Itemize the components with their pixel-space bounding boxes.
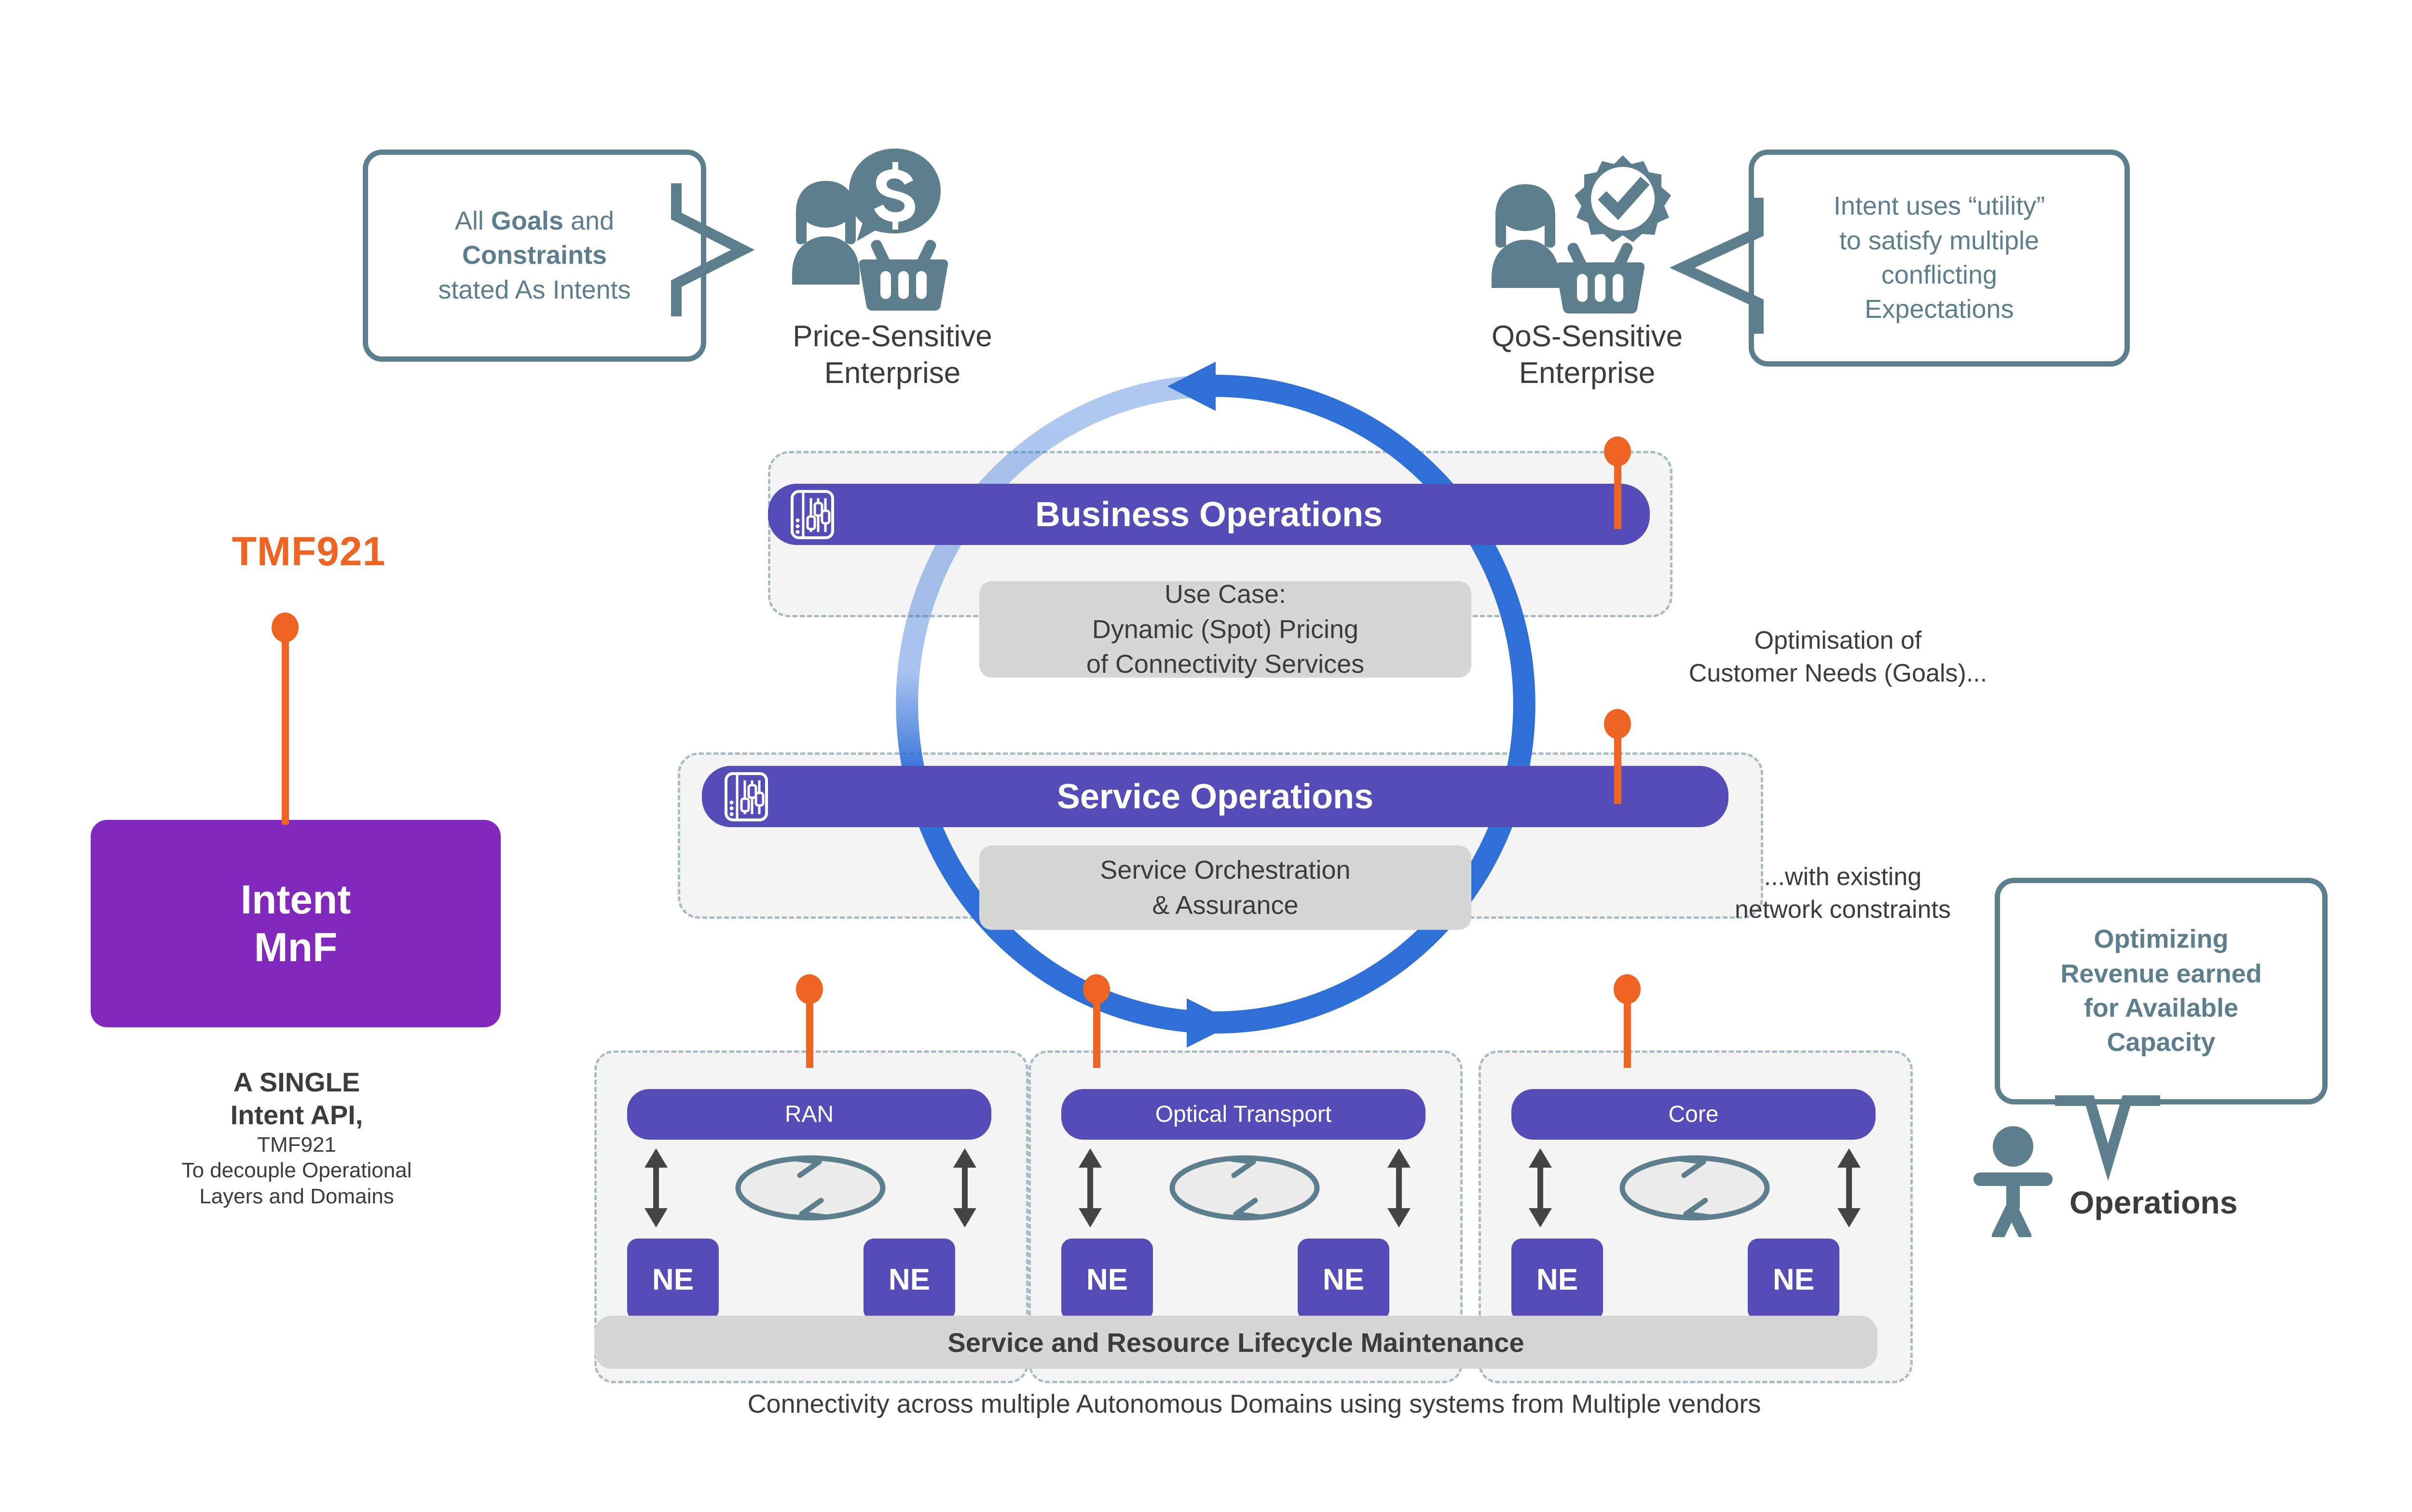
intent-mnf-label: Intent MnF [241, 876, 351, 971]
cycle-loop-arrow [878, 357, 1563, 1051]
ne-label: NE [889, 1263, 930, 1297]
ran-sync-arrows [627, 1145, 994, 1232]
optical-transport-label: Optical Transport [1155, 1101, 1331, 1128]
price-sensitive-enterprise-icon [791, 145, 999, 318]
core-ne-left[interactable]: NE [1511, 1239, 1603, 1321]
pin-stem [1093, 999, 1100, 1068]
core-pill[interactable]: Core [1511, 1089, 1876, 1140]
bubble-optimizing-revenue: Optimizing Revenue earned for Available … [1995, 878, 2328, 1104]
pin-stem [1614, 734, 1621, 804]
tmf921-api-label: TMF921 [183, 528, 434, 575]
use-case-note-text: Use Case: Dynamic (Spot) Pricing of Conn… [1086, 577, 1364, 682]
service-operations-bar[interactable]: Service Operations [702, 766, 1728, 827]
ne-label: NE [652, 1263, 694, 1297]
pin-stem [282, 638, 289, 825]
persona-label-line2: Enterprise [824, 356, 961, 390]
bubble-goals-constraints: All Goals and Constraints stated As Inte… [363, 150, 706, 362]
tmf921-pin [272, 613, 301, 825]
business-operations-pin [1604, 436, 1633, 531]
ne-label: NE [1086, 1263, 1128, 1297]
ne-label: NE [1773, 1263, 1814, 1297]
service-operations-title: Service Operations [1057, 777, 1373, 817]
caption-line-1: A SINGLE [77, 1066, 516, 1099]
diagram-canvas: All Goals and Constraints stated As Inte… [0, 0, 2412, 1512]
ne-label: NE [1323, 1263, 1364, 1297]
ran-label: RAN [785, 1101, 834, 1128]
business-operations-title: Business Operations [1035, 495, 1383, 534]
ne-label: NE [1536, 1263, 1578, 1297]
sliders-equalizer-icon [790, 490, 835, 540]
bubble-utility: Intent uses “utility” to satisfy multipl… [1749, 150, 2130, 367]
service-orchestration-note-text: Service Orchestration & Assurance [1100, 853, 1350, 923]
bubble-goals-tail [671, 178, 777, 318]
pin-stem [1624, 999, 1631, 1068]
core-sync-arrows [1511, 1145, 1878, 1232]
bubble-utility-text: Intent uses “utility” to satisfy multipl… [1821, 189, 2057, 327]
core-label: Core [1668, 1101, 1718, 1128]
sliders-equalizer-icon [724, 772, 768, 822]
constraints-note-line2: network constraints [1735, 896, 1951, 924]
optimisation-note: Optimisation of Customer Needs (Goals)..… [1664, 625, 2012, 690]
optical-transport-ne-left[interactable]: NE [1061, 1239, 1153, 1321]
bubble-revenue-tail [2050, 1095, 2166, 1191]
service-resource-lifecycle-bar: Service and Resource Lifecycle Maintenan… [594, 1316, 1878, 1369]
bottom-caption: Connectivity across multiple Autonomous … [434, 1389, 2074, 1419]
service-operations-pin [1604, 709, 1633, 805]
qos-sensitive-enterprise-icon [1491, 154, 1693, 323]
persona-label-line1: QoS-Sensitive [1492, 320, 1683, 353]
core-ne-right[interactable]: NE [1748, 1239, 1839, 1321]
caption-line-4: To decouple Operational [77, 1158, 516, 1184]
caption-line-2: Intent API, [77, 1099, 516, 1131]
persona-label-line2: Enterprise [1519, 356, 1656, 390]
service-orchestration-note: Service Orchestration & Assurance [979, 845, 1471, 930]
intent-mnf-box[interactable]: Intent MnF [91, 820, 501, 1027]
core-pin [1614, 974, 1643, 1071]
pin-stem [1614, 462, 1621, 529]
price-sensitive-enterprise-label: Price-Sensitive Enterprise [719, 318, 1066, 391]
caption-line-3: TMF921 [77, 1132, 516, 1158]
ran-ne-left[interactable]: NE [627, 1239, 719, 1321]
ran-pin [796, 974, 825, 1071]
caption-line-5: Layers and Domains [77, 1184, 516, 1210]
network-constraints-note: ...with existing network constraints [1674, 861, 2012, 926]
constraints-note-line1: ...with existing [1764, 863, 1922, 891]
intent-mnf-caption: A SINGLE Intent API, TMF921 To decouple … [77, 1066, 516, 1210]
pin-stem [806, 999, 813, 1068]
optical-transport-ne-right[interactable]: NE [1298, 1239, 1389, 1321]
optical-transport-sync-arrows [1061, 1145, 1428, 1232]
use-case-note: Use Case: Dynamic (Spot) Pricing of Conn… [979, 581, 1471, 678]
optical-transport-pin [1083, 974, 1112, 1071]
ran-pill[interactable]: RAN [627, 1089, 991, 1140]
optimisation-note-line1: Optimisation of [1754, 627, 1922, 654]
bubble-utility-tail [1672, 193, 1782, 338]
bubble-goals-text: All Goals and Constraints stated As Inte… [425, 204, 643, 307]
optical-transport-pill[interactable]: Optical Transport [1061, 1089, 1425, 1140]
ran-ne-right[interactable]: NE [863, 1239, 955, 1321]
bubble-revenue-text: Optimizing Revenue earned for Available … [2048, 922, 2274, 1060]
optimisation-note-line2: Customer Needs (Goals)... [1689, 659, 1987, 687]
persona-label-line1: Price-Sensitive [793, 320, 992, 353]
business-operations-bar[interactable]: Business Operations [768, 484, 1650, 545]
